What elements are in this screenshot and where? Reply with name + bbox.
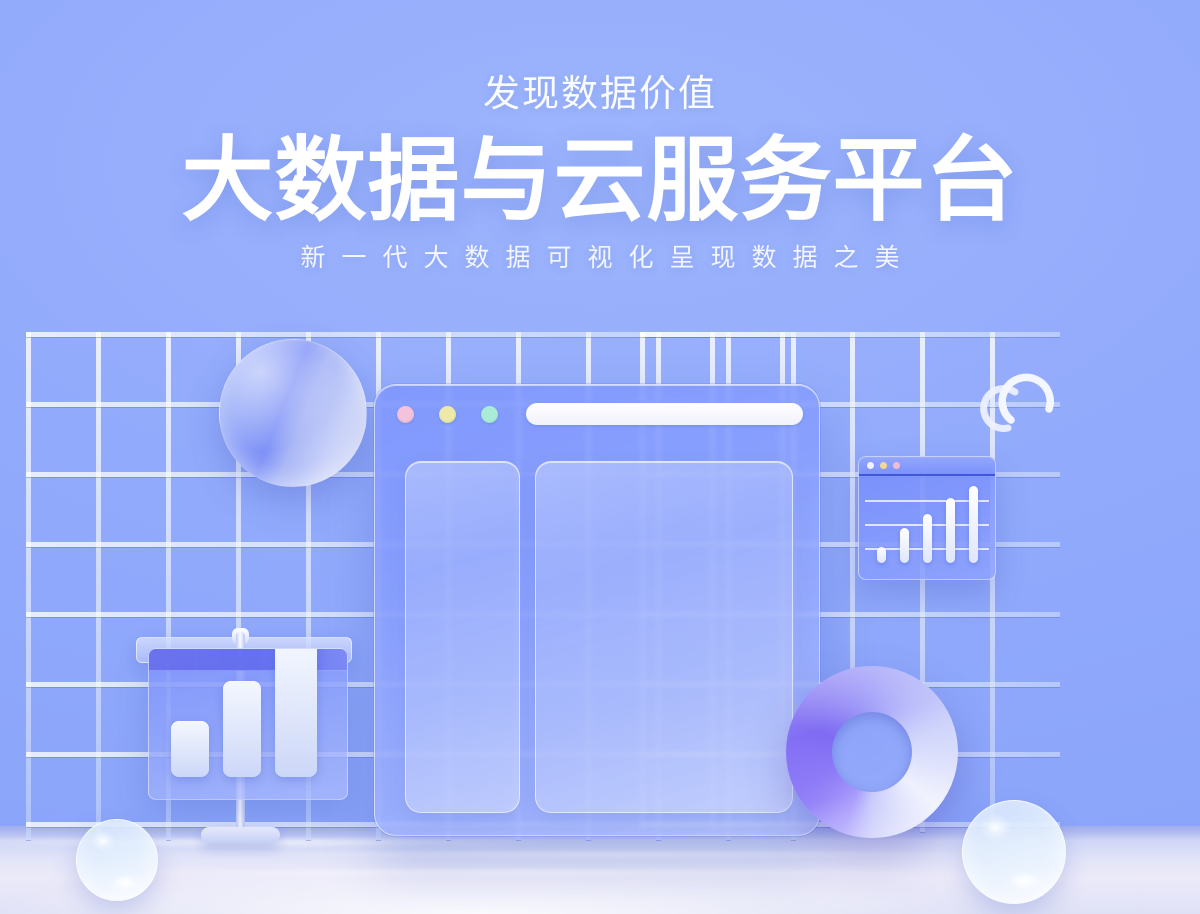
minimize-dot[interactable] bbox=[880, 462, 887, 469]
glass-sphere-left bbox=[76, 819, 158, 901]
maximize-dot[interactable] bbox=[481, 406, 498, 423]
left-panel-bar-chart bbox=[149, 671, 347, 777]
sidebar-pane[interactable] bbox=[405, 461, 520, 813]
address-bar[interactable] bbox=[526, 403, 803, 425]
page-title: 大数据与云服务平台 bbox=[0, 135, 1200, 227]
panel-header bbox=[149, 649, 347, 671]
chart-bar bbox=[900, 528, 909, 563]
mini-window-titlebar bbox=[859, 457, 995, 476]
chart-bar bbox=[946, 498, 955, 563]
maximize-dot[interactable] bbox=[893, 462, 900, 469]
stand-base bbox=[201, 827, 280, 843]
chart-bar bbox=[275, 648, 317, 777]
main-browser-window[interactable] bbox=[374, 384, 820, 836]
bar-chart-panel[interactable] bbox=[148, 648, 348, 800]
chart-bar bbox=[969, 486, 978, 563]
hero-subtitle: 新一代大数据可视化呈现数据之美 bbox=[0, 243, 1200, 273]
hero-text-block: 发现数据价值 大数据与云服务平台 新一代大数据可视化呈现数据之美 bbox=[0, 74, 1200, 273]
close-dot[interactable] bbox=[867, 462, 874, 469]
browser-titlebar bbox=[375, 385, 819, 443]
glass-sphere-right bbox=[962, 800, 1066, 904]
cloud-icon bbox=[975, 362, 1067, 434]
minimize-dot[interactable] bbox=[439, 406, 456, 423]
hero-banner: 发现数据价值 大数据与云服务平台 新一代大数据可视化呈现数据之美 bbox=[0, 0, 1200, 914]
floor-reflection-streak bbox=[240, 852, 1000, 857]
chart-bar bbox=[877, 547, 886, 563]
content-pane[interactable] bbox=[535, 461, 793, 813]
donut-chart bbox=[786, 666, 958, 838]
chart-bar bbox=[223, 681, 261, 777]
mini-chart-window[interactable] bbox=[858, 456, 996, 580]
mini-window-bar-chart bbox=[859, 478, 995, 569]
chart-bar bbox=[923, 514, 932, 563]
close-dot[interactable] bbox=[397, 406, 414, 423]
chart-bar bbox=[171, 721, 209, 777]
hero-eyebrow: 发现数据价值 bbox=[0, 74, 1200, 115]
gradient-disc bbox=[219, 339, 367, 487]
